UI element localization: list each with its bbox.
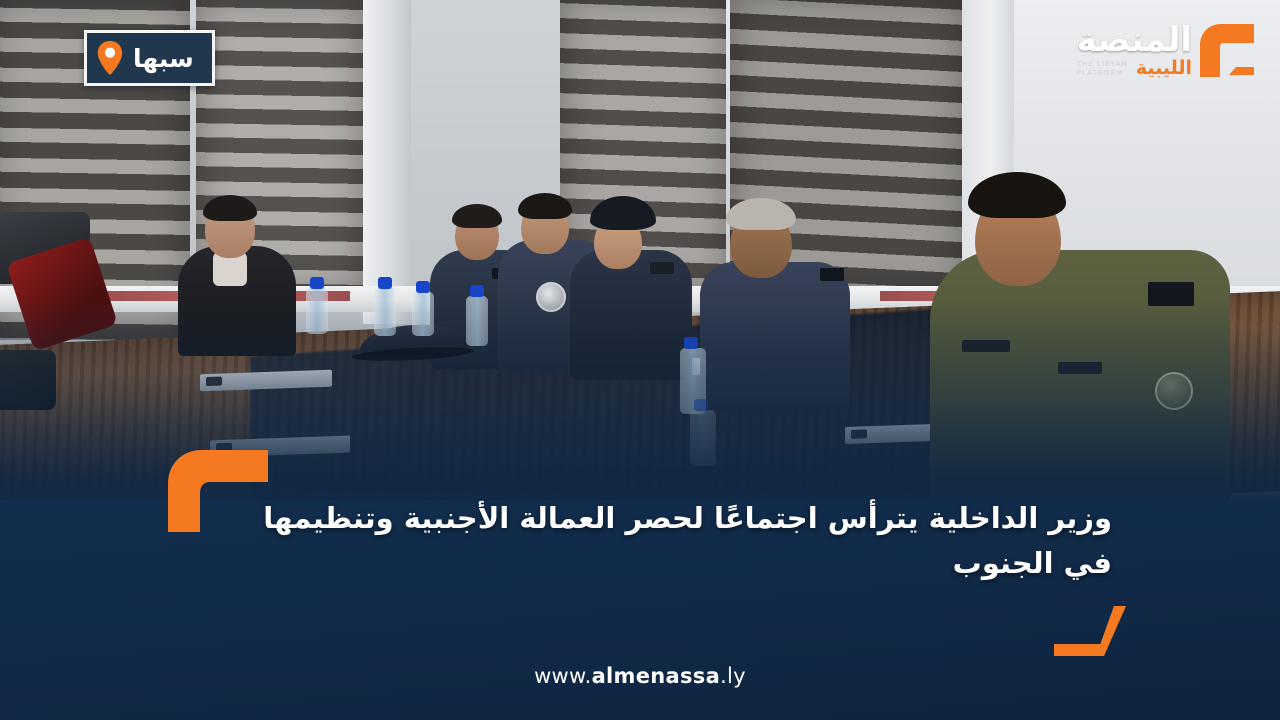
headline-text: وزير الداخلية يترأس اجتماعًا لحصر العمال… xyxy=(240,496,1112,586)
url-prefix: www. xyxy=(534,664,591,688)
news-card: سبها المنصة THE LIBYAN PLATFORM الليبية xyxy=(0,0,1280,720)
url-brand: almenassa xyxy=(592,664,721,688)
location-label: سبها xyxy=(133,46,194,71)
map-pin-icon xyxy=(97,41,123,75)
logo-wordmark: المنصة THE LIBYAN PLATFORM الليبية xyxy=(1076,23,1192,78)
logo-latin-text: THE LIBYAN PLATFORM xyxy=(1076,60,1128,78)
wall-pillar xyxy=(363,0,411,324)
logo-latin-line2: PLATFORM xyxy=(1076,69,1128,78)
rank-insignia xyxy=(820,268,844,281)
logo-subline: THE LIBYAN PLATFORM الليبية xyxy=(1076,59,1192,78)
logo-arabic-secondary: الليبية xyxy=(1136,59,1192,78)
almenassa-logo[interactable]: المنصة THE LIBYAN PLATFORM الليبية xyxy=(1076,14,1258,86)
location-badge[interactable]: سبها xyxy=(84,30,215,86)
url-tld: .ly xyxy=(720,664,746,688)
orange-bracket-mark-icon xyxy=(1196,19,1258,81)
website-url[interactable]: www.almenassa.ly xyxy=(0,664,1280,688)
logo-latin-line1: THE LIBYAN xyxy=(1076,60,1128,69)
name-tag xyxy=(650,262,674,274)
logo-arabic-primary: المنصة xyxy=(1077,23,1192,57)
orange-corner-mark-icon xyxy=(1052,604,1130,660)
